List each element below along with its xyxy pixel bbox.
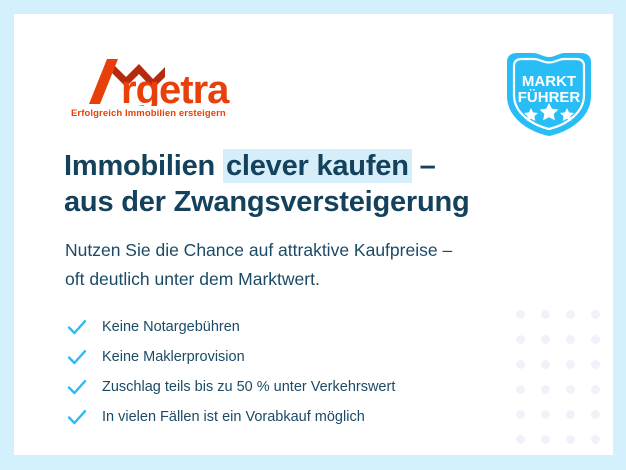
dot bbox=[591, 360, 600, 369]
benefit-label: Zuschlag teils bis zu 50 % unter Verkehr… bbox=[102, 379, 395, 395]
logo-tagline: Erfolgreich Immobilien ersteigern bbox=[71, 108, 226, 119]
benefit-label: Keine Notargebühren bbox=[102, 319, 240, 335]
dot bbox=[566, 435, 575, 444]
dot bbox=[566, 360, 575, 369]
promo-banner: rgetra Erfolgreich Immobilien ersteigern… bbox=[0, 0, 626, 470]
headline: Immobilien clever kaufen – aus der Zwang… bbox=[64, 148, 584, 220]
argetra-logo[interactable]: rgetra Erfolgreich Immobilien ersteigern bbox=[69, 58, 269, 120]
dot bbox=[541, 335, 550, 344]
dot bbox=[516, 435, 525, 444]
dot bbox=[541, 360, 550, 369]
dot bbox=[591, 385, 600, 394]
dot bbox=[591, 410, 600, 419]
dot bbox=[566, 385, 575, 394]
dot bbox=[541, 310, 550, 319]
benefit-label: In vielen Fällen ist ein Vorabkauf mögli… bbox=[102, 409, 365, 425]
headline-line-1: Immobilien clever kaufen – bbox=[64, 148, 584, 184]
benefit-label: Keine Maklerprovision bbox=[102, 349, 245, 365]
dot bbox=[591, 435, 600, 444]
headline-line1-pre: Immobilien bbox=[64, 150, 223, 182]
subheadline-line-2: oft deutlich unter dem Marktwert. bbox=[65, 265, 585, 294]
check-icon bbox=[66, 346, 88, 368]
check-icon bbox=[66, 316, 88, 338]
dot bbox=[566, 335, 575, 344]
dot bbox=[541, 385, 550, 394]
check-icon bbox=[66, 406, 88, 428]
argetra-logo-mark: rgetra bbox=[69, 58, 269, 106]
banner-card: rgetra Erfolgreich Immobilien ersteigern… bbox=[14, 14, 613, 455]
dot bbox=[541, 435, 550, 444]
headline-line1-post: – bbox=[412, 150, 436, 182]
svg-text:rgetra: rgetra bbox=[121, 68, 230, 106]
markt-fuehrer-badge: MARKT FÜHRER bbox=[503, 50, 595, 138]
benefits-list: Keine Notargebühren Keine Maklerprovisio… bbox=[66, 312, 536, 432]
headline-highlight: clever kaufen bbox=[223, 149, 412, 183]
badge-line1-text: MARKT bbox=[522, 73, 576, 90]
dot bbox=[566, 410, 575, 419]
list-item: Keine Notargebühren bbox=[66, 312, 536, 342]
dot bbox=[566, 310, 575, 319]
list-item: Keine Maklerprovision bbox=[66, 342, 536, 372]
list-item: Zuschlag teils bis zu 50 % unter Verkehr… bbox=[66, 372, 536, 402]
dot bbox=[541, 410, 550, 419]
subheadline: Nutzen Sie die Chance auf attraktive Kau… bbox=[65, 236, 585, 294]
headline-line-2: aus der Zwangsversteigerung bbox=[64, 184, 584, 220]
check-icon bbox=[66, 376, 88, 398]
list-item: In vielen Fällen ist ein Vorabkauf mögli… bbox=[66, 402, 536, 432]
dot bbox=[591, 335, 600, 344]
subheadline-line-1: Nutzen Sie die Chance auf attraktive Kau… bbox=[65, 236, 585, 265]
dot bbox=[591, 310, 600, 319]
shield-badge-icon: MARKT FÜHRER bbox=[503, 50, 595, 138]
